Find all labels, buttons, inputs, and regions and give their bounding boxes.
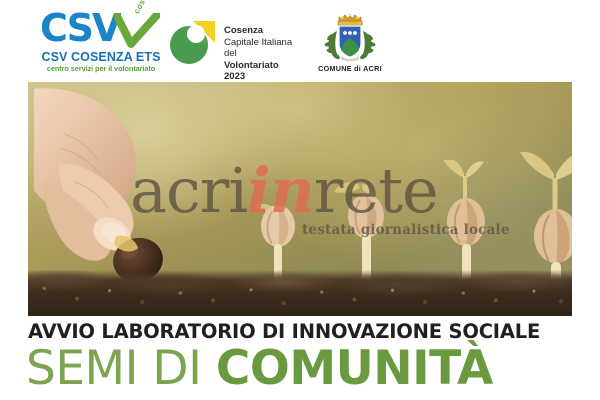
cosenza-line-3: Volontariato 2023 [224, 60, 300, 83]
logo-comune-di-acri: COMUNE di ACRI [312, 10, 388, 76]
logo-cosenza-capitale: Cosenza Capitale Italiana del Volontaria… [168, 16, 300, 70]
acri-caption-text: COMUNE di ACRI [312, 64, 388, 73]
cosenza-line-1: Cosenza [224, 25, 300, 37]
headline-part-bold: COMUNITÀ [216, 341, 493, 396]
kicker-text: AVVIO LABORATORIO DI INNOVAZIONE SOCIALE [28, 320, 540, 343]
cosenza-line-2: Capitale Italiana del [224, 37, 300, 60]
headline-part-light: SEMI DI [26, 341, 216, 396]
hand-planting-seed-illustration [34, 86, 244, 296]
poster-canvas: CSV cosenza CSV COSENZA ETS centro servi… [0, 0, 600, 400]
cosenza-logomark-icon [168, 18, 218, 66]
csv-letters-text: CSV [40, 8, 119, 48]
headline-text: SEMI DI COMUNITÀ [26, 343, 493, 395]
csv-logomark: CSV cosenza [40, 12, 162, 52]
acri-coat-of-arms-icon [322, 10, 378, 64]
logo-csv-cosenza-ets: CSV cosenza CSV COSENZA ETS centro servi… [40, 12, 162, 76]
header-logo-strip: CSV cosenza CSV COSENZA ETS centro servi… [0, 0, 600, 82]
cosenza-logo-text-block: Cosenza Capitale Italiana del Volontaria… [224, 25, 300, 83]
hero-photo [28, 82, 572, 316]
soil-texture-overlay [28, 270, 572, 316]
csv-organisation-name: CSV COSENZA ETS [40, 50, 162, 64]
csv-tagline: centro servizi per il volontariato [37, 64, 165, 73]
soil-strip [28, 270, 572, 316]
csv-green-check-icon [114, 13, 160, 49]
